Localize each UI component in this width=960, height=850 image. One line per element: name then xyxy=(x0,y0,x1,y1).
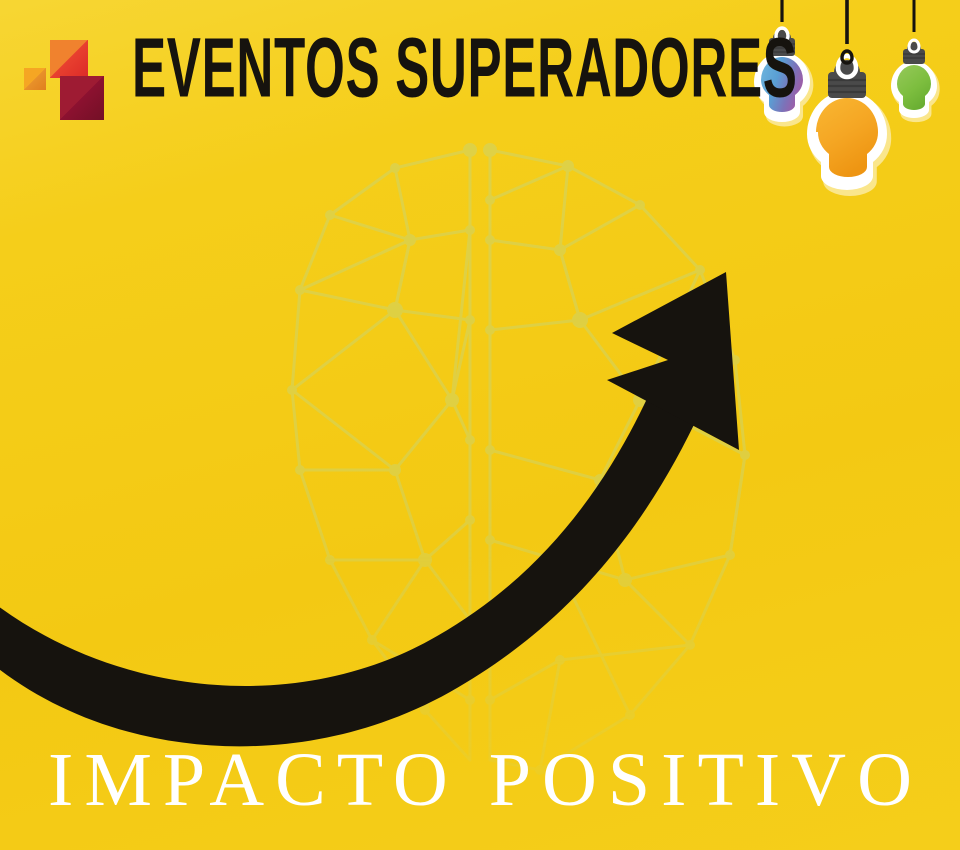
three-squares-mark-icon xyxy=(24,32,86,104)
arrow-curve-path xyxy=(0,388,700,746)
orange-red-square-icon xyxy=(50,40,88,78)
brand-title: EVENTOS SUPERADORES xyxy=(132,26,798,111)
dark-maroon-square-icon xyxy=(60,76,104,120)
tagline-text: IMPACTO POSITIVO xyxy=(0,738,960,822)
poster-canvas: EVENTOS SUPERADORES IMPACTO POSITIVO xyxy=(0,0,960,850)
small-orange-square-icon xyxy=(24,68,46,90)
brand-logo[interactable]: EVENTOS SUPERADORES xyxy=(24,22,960,114)
